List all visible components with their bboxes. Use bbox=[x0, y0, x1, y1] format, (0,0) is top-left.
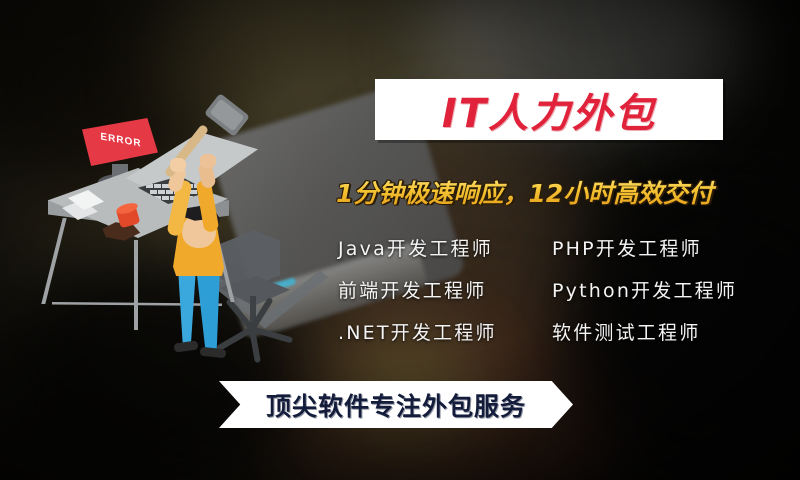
desk-leg bbox=[134, 240, 138, 330]
role-item: 前端开发工程师 bbox=[338, 276, 552, 303]
role-row: .NET开发工程师 软件测试工程师 bbox=[338, 310, 788, 352]
role-row: 前端开发工程师 Python开发工程师 bbox=[338, 268, 788, 310]
ribbon-slogan: 顶尖软件专注外包服务 bbox=[266, 387, 526, 423]
role-item: 软件测试工程师 bbox=[552, 318, 700, 345]
poster-subtitle: 1分钟极速响应，12小时高效交付 bbox=[336, 174, 776, 210]
title-banner: IT人力外包 bbox=[375, 79, 723, 140]
role-item: PHP开发工程师 bbox=[552, 234, 702, 261]
keyboard-key bbox=[190, 190, 197, 194]
person-left-hand bbox=[170, 158, 186, 172]
bottom-ribbon: 顶尖软件专注外包服务 bbox=[219, 381, 573, 428]
keyboard-key bbox=[158, 190, 165, 194]
person-right-hand bbox=[200, 154, 216, 168]
role-list: Java开发工程师 PHP开发工程师 前端开发工程师 Python开发工程师 .… bbox=[338, 226, 788, 352]
person-left-leg bbox=[176, 268, 196, 346]
keyboard-key bbox=[150, 190, 157, 194]
role-item: Python开发工程师 bbox=[552, 276, 737, 303]
desk-leg bbox=[41, 218, 66, 304]
keyboard-key bbox=[154, 184, 161, 188]
poster-canvas: ERROR IT人力外包 1分钟极速响应，12小时高效交付 bbox=[0, 0, 800, 480]
role-item: Java开发工程师 bbox=[338, 234, 552, 261]
poster-title: IT人力外包 bbox=[442, 81, 656, 139]
role-row: Java开发工程师 PHP开发工程师 bbox=[338, 226, 788, 268]
person-right-leg bbox=[196, 266, 220, 352]
developer-smashing-desk-illustration: ERROR bbox=[30, 80, 330, 350]
chair-base-spoke bbox=[216, 326, 254, 351]
keyboard-key bbox=[162, 196, 169, 200]
chair-base-spoke bbox=[251, 326, 293, 343]
role-item: .NET开发工程师 bbox=[338, 318, 552, 345]
